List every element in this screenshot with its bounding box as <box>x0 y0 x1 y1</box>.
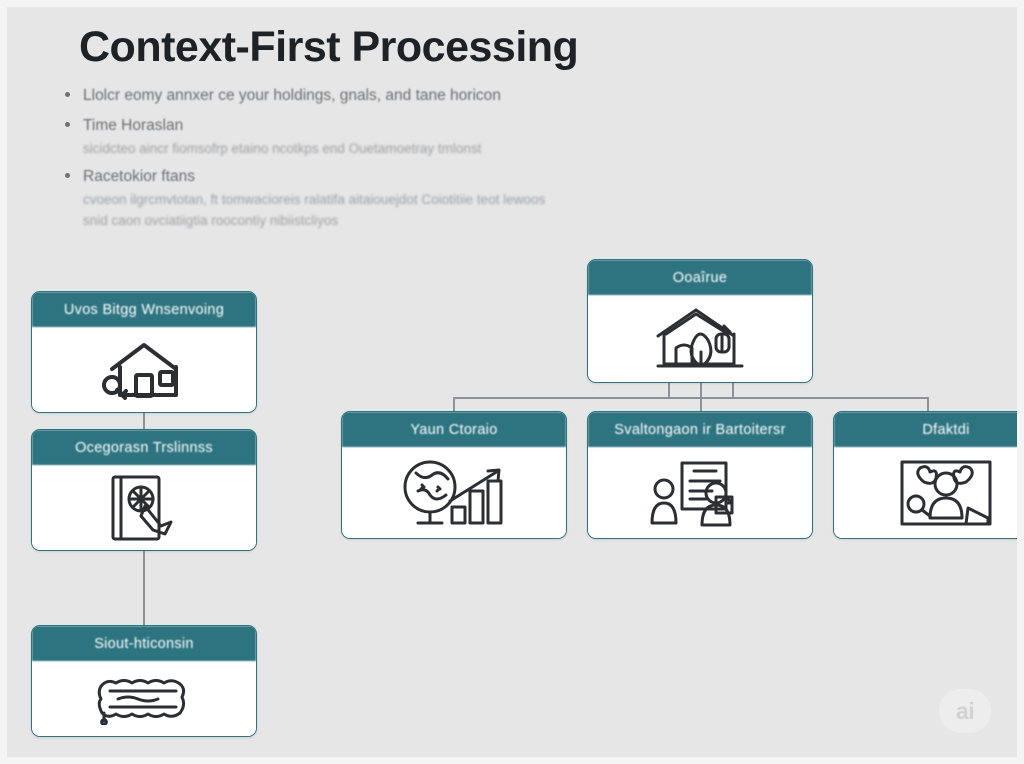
tree-connector-root-stub-left <box>668 383 670 397</box>
house-with-key-icon <box>92 337 196 403</box>
bullet-text: Time Horaslan <box>83 115 697 136</box>
bullet-dot-icon <box>65 173 70 178</box>
bullet-subtext: sicidcteo aincr fiomsofrp etaino ncotkps… <box>57 138 697 159</box>
bullet-list: Llolcr eomy annxer ce your holdings, gna… <box>57 85 697 231</box>
tree-root-body <box>588 295 812 382</box>
tree-child-card-1[interactable]: Yaun Ctoraio <box>341 411 567 539</box>
tree-root-card[interactable]: Ooaîrue <box>587 259 813 383</box>
scroll-document-icon <box>88 673 200 725</box>
left-card-3[interactable]: Siout-hticonsin <box>31 625 257 737</box>
tree-child-3-body <box>834 447 1024 538</box>
tree-connector-horizontal-bus <box>453 397 928 399</box>
left-card-1-header: Uvos Bitgg Wnsenvoing <box>32 292 256 327</box>
bullet-dot-icon <box>65 92 70 97</box>
bullet-text: Racetokior ftans <box>83 166 697 187</box>
left-card-2-header: Ocegorasn Trslinnss <box>32 430 256 465</box>
left-card-1-body <box>32 327 256 412</box>
framed-group-picture-icon <box>896 458 996 528</box>
left-card-1[interactable]: Uvos Bitgg Wnsenvoing <box>31 291 257 413</box>
door-with-wreath-icon <box>101 472 187 544</box>
connector-left-2-3 <box>143 551 145 625</box>
list-item: Racetokior ftans <box>57 166 697 187</box>
bullet-text: Llolcr eomy annxer ce your holdings, gna… <box>83 85 697 106</box>
left-card-3-header: Siout-hticonsin <box>32 626 256 661</box>
tree-connector-root-stub-right <box>732 383 734 397</box>
tree-child-card-2[interactable]: Svaltongaon ir Bartoitersr <box>587 411 813 539</box>
watermark-label: ai <box>956 698 974 725</box>
presentation-slide: Context-First Processing Llolcr eomy ann… <box>0 0 1024 764</box>
globe-bar-chart-icon <box>394 457 514 529</box>
house-with-tree-icon <box>642 304 758 374</box>
tree-child-3-header: Dfaktdi <box>834 412 1024 447</box>
bullet-subtext: cvoeon ilgrcmvtotan, ft tomwacioreis ral… <box>57 189 697 210</box>
tree-child-2-header: Svaltongaon ir Bartoitersr <box>588 412 812 447</box>
bullet-subtext-2: snid caon ovciatiigtia roocontiy nibiist… <box>57 210 697 231</box>
page-title: Context-First Processing <box>79 23 578 72</box>
list-item: Llolcr eomy annxer ce your holdings, gna… <box>57 85 697 106</box>
ai-watermark-badge: ai <box>939 689 991 733</box>
tree-child-1-body <box>342 447 566 538</box>
tree-child-1-header: Yaun Ctoraio <box>342 412 566 447</box>
people-document-icon <box>642 457 758 529</box>
left-card-2[interactable]: Ocegorasn Trslinnss <box>31 429 257 551</box>
tree-child-2-body <box>588 447 812 538</box>
tree-root-header: Ooaîrue <box>588 260 812 295</box>
list-item: Time Horaslan <box>57 115 697 136</box>
tree-child-card-3[interactable]: Dfaktdi <box>833 411 1024 539</box>
bullet-dot-icon <box>65 122 70 127</box>
left-card-3-body <box>32 661 256 736</box>
left-card-2-body <box>32 465 256 550</box>
